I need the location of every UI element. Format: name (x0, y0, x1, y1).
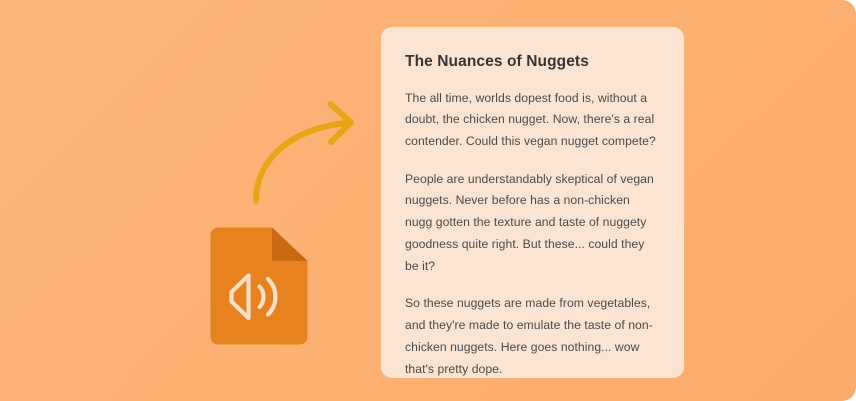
card-title: The Nuances of Nuggets (405, 53, 660, 72)
card-paragraph: People are understandably skeptical of v… (405, 169, 660, 278)
file-fold-corner (272, 228, 308, 262)
curved-arrow-icon (245, 100, 363, 205)
card-paragraph: The all time, worlds dopest food is, wit… (405, 88, 660, 153)
audio-file-icon[interactable] (210, 227, 308, 345)
card-paragraph: So these nuggets are made from vegetable… (405, 293, 660, 378)
illustration-canvas: The Nuances of Nuggets The all time, wor… (0, 0, 856, 401)
transcript-card: The Nuances of Nuggets The all time, wor… (381, 27, 684, 378)
